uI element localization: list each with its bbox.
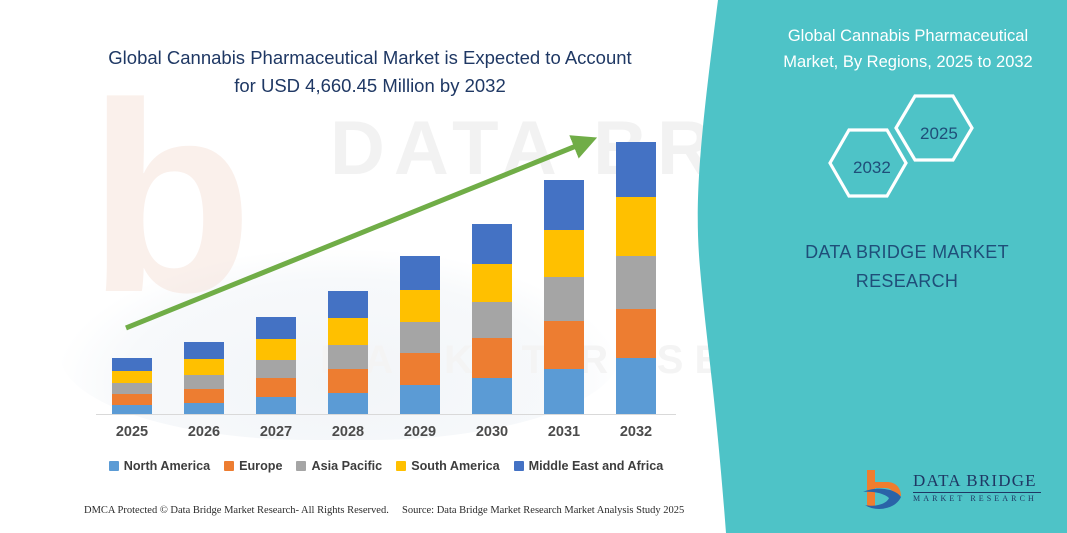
x-axis-label-2027: 2027 [240, 424, 312, 440]
x-axis-line [96, 414, 676, 415]
bar-segment-middle-east-and-africa[interactable] [400, 256, 440, 290]
bar-segment-north-america[interactable] [400, 385, 440, 415]
legend-swatch-icon [296, 461, 306, 471]
chart-title-line1: Global Cannabis Pharmaceutical Market is… [108, 47, 631, 68]
legend-item-north-america[interactable]: North America [109, 459, 210, 473]
legend-label: North America [124, 459, 210, 473]
chart-title: Global Cannabis Pharmaceutical Market is… [60, 44, 680, 100]
year-hexagon-group: 2025 2032 [807, 88, 1007, 203]
legend-swatch-icon [109, 461, 119, 471]
bar-segment-europe[interactable] [256, 378, 296, 397]
legend-item-asia-pacific[interactable]: Asia Pacific [296, 459, 382, 473]
legend-item-europe[interactable]: Europe [224, 459, 282, 473]
bar-segment-south-america[interactable] [400, 290, 440, 322]
bar-segment-north-america[interactable] [616, 358, 656, 415]
bar-segment-middle-east-and-africa[interactable] [472, 224, 512, 264]
bar-segment-south-america[interactable] [328, 318, 368, 344]
dmca-notice: DMCA Protected © Data Bridge Market Rese… [84, 505, 389, 516]
bar-segment-middle-east-and-africa[interactable] [616, 142, 656, 197]
panel-heading-line2: Market, By Regions, 2025 to 2032 [783, 53, 1032, 71]
bar-segment-south-america[interactable] [184, 359, 224, 375]
bar-segment-asia-pacific[interactable] [544, 277, 584, 321]
bar-segment-south-america[interactable] [472, 264, 512, 302]
company-logo: DATA BRIDGE MARKET RESEARCH [855, 466, 1045, 518]
bar-segment-middle-east-and-africa[interactable] [184, 342, 224, 359]
bar-segment-europe[interactable] [328, 369, 368, 393]
legend-label: Europe [239, 459, 282, 473]
bar-segment-asia-pacific[interactable] [616, 256, 656, 309]
legend-item-south-america[interactable]: South America [396, 459, 499, 473]
legend-label: South America [411, 459, 499, 473]
bar-segment-south-america[interactable] [112, 371, 152, 383]
x-axis-labels: 20252026202720282029203020312032 [96, 424, 676, 448]
x-axis-label-2025: 2025 [96, 424, 168, 440]
bar-column-2028[interactable] [328, 291, 368, 415]
legend-swatch-icon [396, 461, 406, 471]
brand-name: DATA BRIDGE MARKET RESEARCH [761, 238, 1053, 296]
bar-segment-south-america[interactable] [616, 197, 656, 255]
bar-segment-asia-pacific[interactable] [400, 322, 440, 352]
bar-segment-middle-east-and-africa[interactable] [256, 317, 296, 339]
bar-column-2029[interactable] [400, 256, 440, 415]
chart-title-line2: for USD 4,660.45 Million by 2032 [234, 75, 505, 96]
logo-divider [913, 492, 1041, 493]
legend-swatch-icon [224, 461, 234, 471]
bar-segment-asia-pacific[interactable] [256, 360, 296, 378]
bar-segment-asia-pacific[interactable] [184, 375, 224, 389]
bar-segment-europe[interactable] [544, 321, 584, 368]
bar-segment-middle-east-and-africa[interactable] [112, 358, 152, 371]
bar-column-2027[interactable] [256, 317, 296, 415]
logo-subtitle: MARKET RESEARCH [913, 495, 1045, 503]
bar-column-2025[interactable] [112, 358, 152, 415]
bar-segment-europe[interactable] [112, 394, 152, 405]
bar-segment-asia-pacific[interactable] [328, 345, 368, 369]
bar-segment-middle-east-and-africa[interactable] [328, 291, 368, 318]
chart-panel: b DATA BRIDGE MARKET RESEARCH Global Can… [0, 0, 740, 533]
bar-segment-asia-pacific[interactable] [112, 383, 152, 394]
legend-item-middle-east-and-africa[interactable]: Middle East and Africa [514, 459, 664, 473]
footer: DMCA Protected © Data Bridge Market Rese… [0, 505, 740, 529]
panel-heading-line1: Global Cannabis Pharmaceutical [788, 27, 1028, 45]
bar-column-2026[interactable] [184, 341, 224, 415]
logo-title: DATA BRIDGE [913, 472, 1045, 489]
bar-segment-europe[interactable] [400, 353, 440, 385]
brand-name-line2: RESEARCH [856, 271, 958, 291]
hexagon-2025-label: 2025 [920, 124, 958, 144]
infographic-canvas: b DATA BRIDGE MARKET RESEARCH Global Can… [0, 0, 1067, 533]
x-axis-label-2031: 2031 [528, 424, 600, 440]
bar-segment-north-america[interactable] [472, 378, 512, 415]
hexagon-2032-label: 2032 [853, 158, 891, 178]
x-axis-label-2028: 2028 [312, 424, 384, 440]
x-axis-label-2029: 2029 [384, 424, 456, 440]
bar-segment-north-america[interactable] [328, 393, 368, 415]
bar-column-2030[interactable] [472, 224, 512, 415]
brand-panel: Global Cannabis Pharmaceutical Market, B… [745, 0, 1067, 533]
bar-segment-europe[interactable] [184, 389, 224, 403]
hexagon-outlines-icon [807, 88, 1007, 203]
bar-segment-middle-east-and-africa[interactable] [544, 180, 584, 229]
bar-segment-north-america[interactable] [256, 397, 296, 415]
bar-chart-plot-area [96, 130, 676, 415]
bar-column-2031[interactable] [544, 180, 584, 415]
legend-swatch-icon [514, 461, 524, 471]
x-axis-label-2026: 2026 [168, 424, 240, 440]
bar-segment-north-america[interactable] [544, 369, 584, 415]
x-axis-label-2032: 2032 [600, 424, 672, 440]
logo-mark-icon [855, 466, 911, 516]
bar-segment-south-america[interactable] [544, 230, 584, 277]
panel-heading: Global Cannabis Pharmaceutical Market, B… [763, 24, 1053, 75]
bar-segment-europe[interactable] [472, 338, 512, 377]
x-axis-label-2030: 2030 [456, 424, 528, 440]
bar-segment-asia-pacific[interactable] [472, 302, 512, 338]
legend-label: Middle East and Africa [529, 459, 664, 473]
bar-column-2032[interactable] [616, 142, 656, 415]
chart-legend: North AmericaEuropeAsia PacificSouth Ame… [96, 459, 676, 473]
logo-wordmark: DATA BRIDGE MARKET RESEARCH [913, 472, 1045, 503]
source-note: Source: Data Bridge Market Research Mark… [402, 505, 684, 516]
bar-segment-europe[interactable] [616, 309, 656, 357]
legend-label: Asia Pacific [311, 459, 382, 473]
brand-name-line1: DATA BRIDGE MARKET [805, 242, 1009, 262]
bar-segment-south-america[interactable] [256, 339, 296, 359]
